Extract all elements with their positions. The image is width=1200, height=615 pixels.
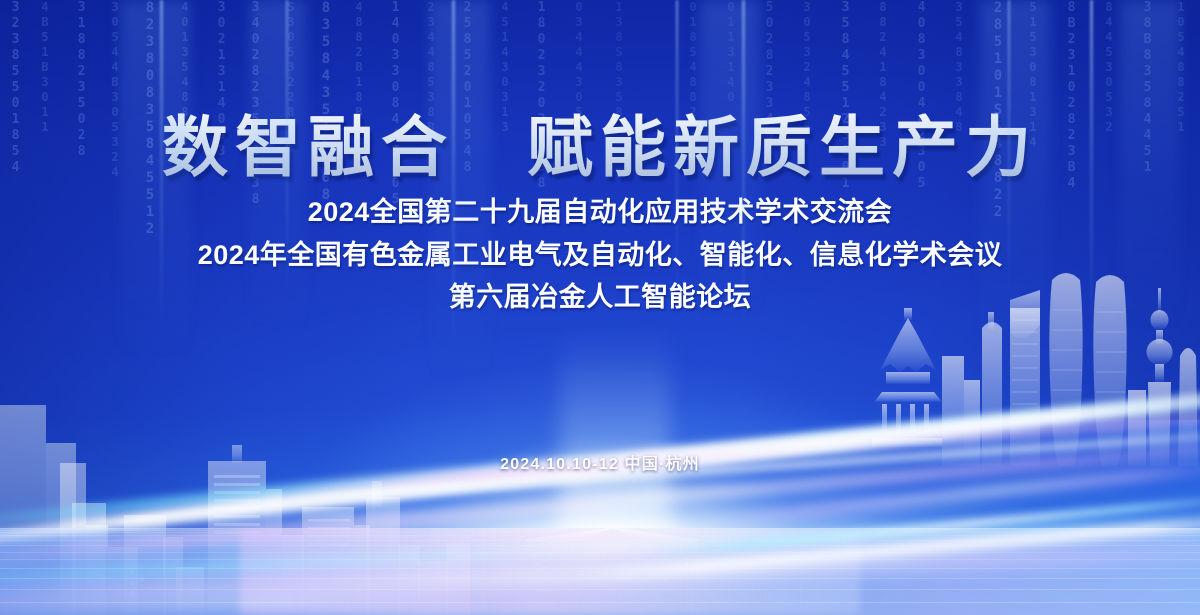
light-beam-soft [1120, 0, 1180, 330]
grid-line-horizontal [0, 589, 1200, 590]
light-beam-soft [430, 0, 490, 380]
grid-line-horizontal [0, 602, 1200, 603]
perspective-grid-floor [0, 528, 1200, 615]
light-beam-soft [980, 0, 1050, 350]
conference-banner: 323855018544B51B3011318823502830544B3053… [0, 0, 1200, 615]
light-beam [1090, 0, 1093, 340]
grid-line-vertical [612, 528, 613, 615]
grid-line-horizontal [0, 568, 1200, 569]
grid-line-horizontal [0, 578, 1200, 579]
light-beam [676, 0, 678, 300]
grid-line-horizontal [0, 552, 1200, 553]
light-beam-soft [250, 0, 306, 330]
date-location-text: 2024.10.10-12 中国·杭州 [0, 450, 1200, 474]
light-beam-soft [120, 0, 190, 360]
light-beam-soft [700, 0, 760, 320]
